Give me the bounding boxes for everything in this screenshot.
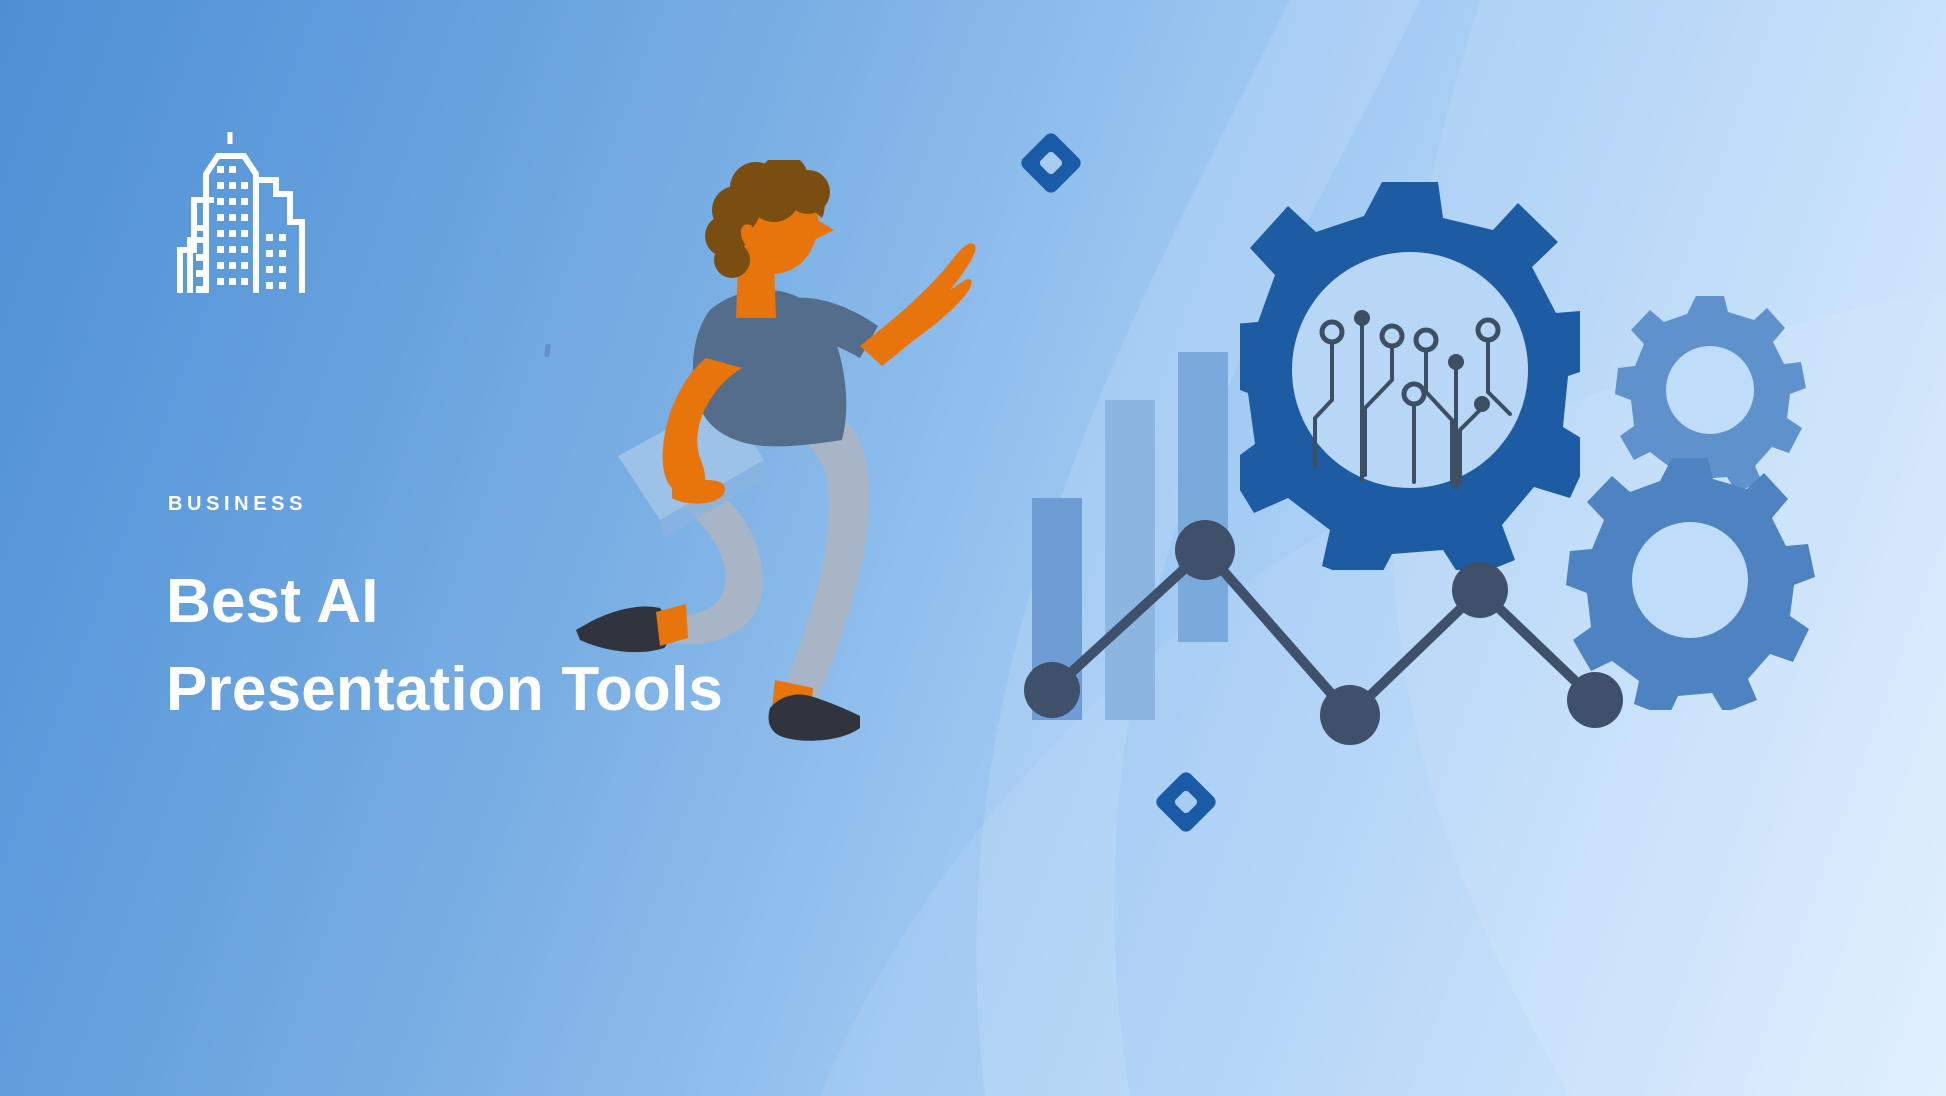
banner-root: BUSINESS Best AI Presentation Tools	[0, 0, 1946, 1096]
character-back-shoe	[576, 607, 668, 653]
character-nose	[814, 218, 834, 240]
chart-node	[1452, 562, 1508, 618]
character-pointing-arm	[860, 243, 976, 366]
chart-node	[1175, 520, 1235, 580]
diamond-top-icon	[1018, 130, 1083, 195]
character-front-shoe	[769, 695, 860, 741]
background-speck	[544, 344, 551, 358]
chart-node	[1320, 685, 1380, 745]
chart-node	[1024, 662, 1080, 718]
main-circuit-gear	[1240, 170, 1580, 570]
running-character	[560, 160, 1010, 760]
hero-illustration	[0, 0, 1946, 1096]
chart-node	[1567, 672, 1623, 728]
growth-line-chart	[1010, 520, 1650, 820]
